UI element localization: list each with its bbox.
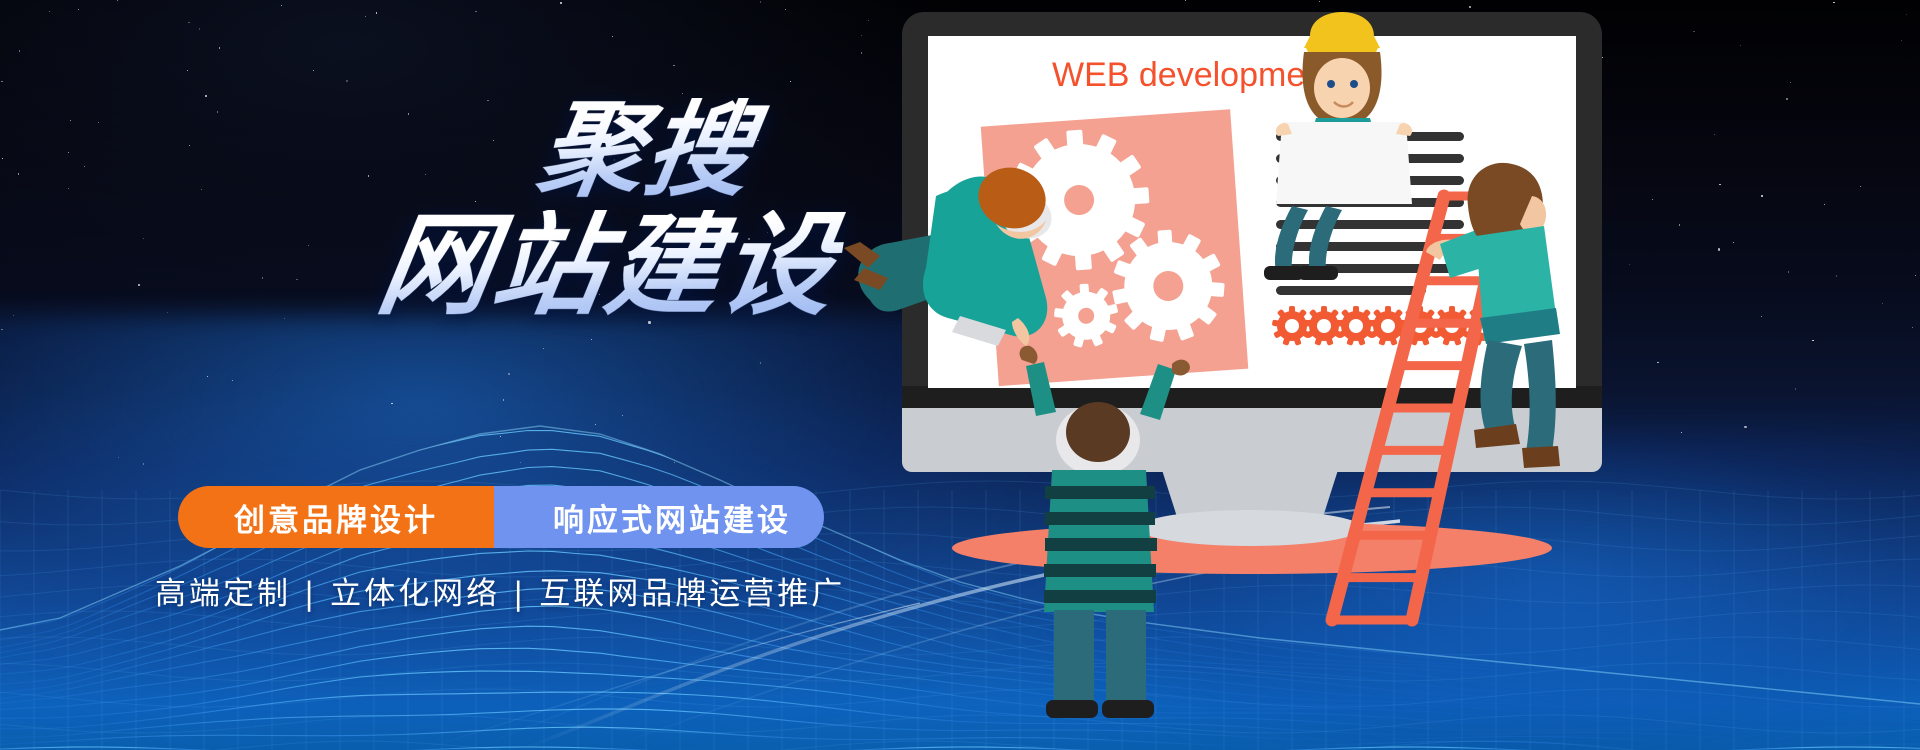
headline-line-2: 网站建设	[131, 210, 849, 322]
screen-title: WEB development	[1052, 56, 1334, 94]
monitor-scene: WEB development	[840, 0, 1920, 750]
shoe-right	[1102, 700, 1154, 718]
pill-segment-responsive-web[interactable]: 响应式网站建设	[494, 486, 824, 548]
monitor-base	[1138, 510, 1362, 546]
pill-label-responsive-web: 响应式网站建设	[553, 495, 791, 540]
leg-left	[1054, 610, 1094, 706]
service-pill: 创意品牌设计 响应式网站建设	[178, 486, 824, 548]
headline-block: 聚搜 网站建设 创意品牌设计 响应式网站建设 高端定制 | 立体化网络 | 互联…	[0, 0, 860, 750]
headline: 聚搜 网站建设	[140, 98, 840, 322]
illustration: WEB development	[840, 0, 1920, 750]
pill-label-brand-design: 创意品牌设计	[234, 495, 438, 540]
shoe-right	[1522, 446, 1560, 468]
leg-right	[1106, 610, 1146, 706]
tagline: 高端定制 | 立体化网络 | 互联网品牌运营推广	[155, 568, 835, 613]
hair	[1066, 402, 1130, 462]
promo-banner: 聚搜 网站建设 创意品牌设计 响应式网站建设 高端定制 | 立体化网络 | 互联…	[0, 0, 1920, 750]
text-line	[1276, 286, 1426, 295]
pill-segment-brand-design[interactable]: 创意品牌设计	[178, 486, 494, 548]
shoe-left	[1046, 700, 1098, 718]
headline-line-1: 聚搜	[132, 98, 848, 202]
face	[1314, 58, 1370, 118]
